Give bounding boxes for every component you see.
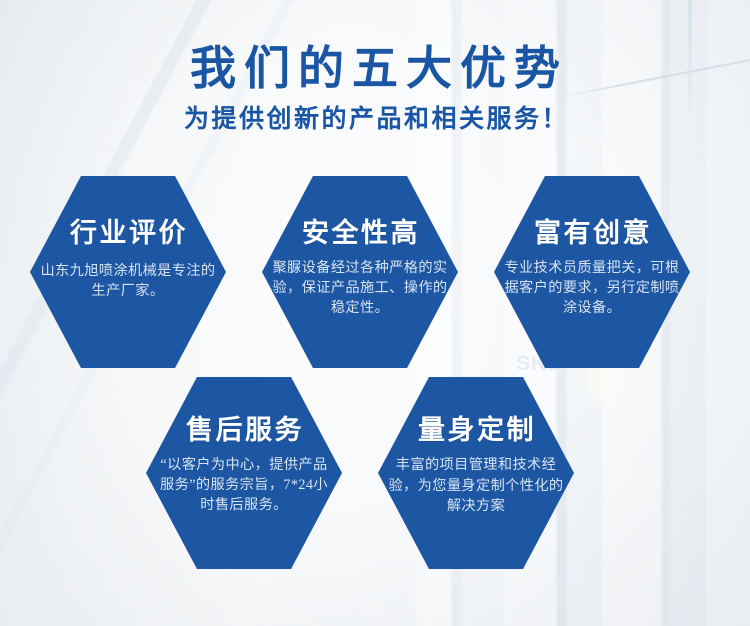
advantage-title: 售后服务 bbox=[184, 417, 304, 444]
advantages-banner: SKL 我们的五大优势 为提供创新的产品和相关服务！ 行业评价 山东九旭喷涂机械… bbox=[0, 0, 750, 626]
banner-header: 我们的五大优势 为提供创新的产品和相关服务！ bbox=[0, 0, 750, 133]
advantage-body: 专业技术员质量把关，可根据客户的要求，另行定制喷涂设备。 bbox=[500, 258, 684, 318]
advantage-hexagon-creative: 富有创意 专业技术员质量把关，可根据客户的要求，另行定制喷涂设备。 bbox=[494, 176, 690, 368]
advantage-hexagon-high-safety: 安全性高 聚脲设备经过各种严格的实验，保证产品施工、操作的稳定性。 bbox=[262, 176, 458, 368]
advantage-title: 安全性高 bbox=[300, 220, 420, 247]
advantage-title: 量身定制 bbox=[416, 417, 536, 444]
page-subtitle: 为提供创新的产品和相关服务！ bbox=[0, 106, 750, 134]
advantage-hexagon-tailor-made: 量身定制 丰富的项目管理和技术经验，为您量身定制个性化的解决方案 bbox=[378, 377, 574, 569]
advantage-hexagon-industry-rating: 行业评价 山东九旭喷涂机械是专注的生产厂家。 bbox=[30, 176, 226, 368]
advantage-body: 山东九旭喷涂机械是专注的生产厂家。 bbox=[36, 261, 220, 301]
advantage-body: 丰富的项目管理和技术经验，为您量身定制个性化的解决方案 bbox=[384, 455, 568, 517]
advantage-body: “以客户为中心，提供产品服务”的服务宗旨，7*24小时售后服务。 bbox=[152, 455, 336, 515]
advantage-title: 行业评价 bbox=[68, 220, 188, 247]
advantage-hexagon-after-sales: 售后服务 “以客户为中心，提供产品服务”的服务宗旨，7*24小时售后服务。 bbox=[146, 377, 342, 569]
page-title: 我们的五大优势 bbox=[0, 44, 750, 94]
advantage-title: 富有创意 bbox=[532, 220, 652, 247]
advantage-body: 聚脲设备经过各种严格的实验，保证产品施工、操作的稳定性。 bbox=[268, 258, 452, 318]
